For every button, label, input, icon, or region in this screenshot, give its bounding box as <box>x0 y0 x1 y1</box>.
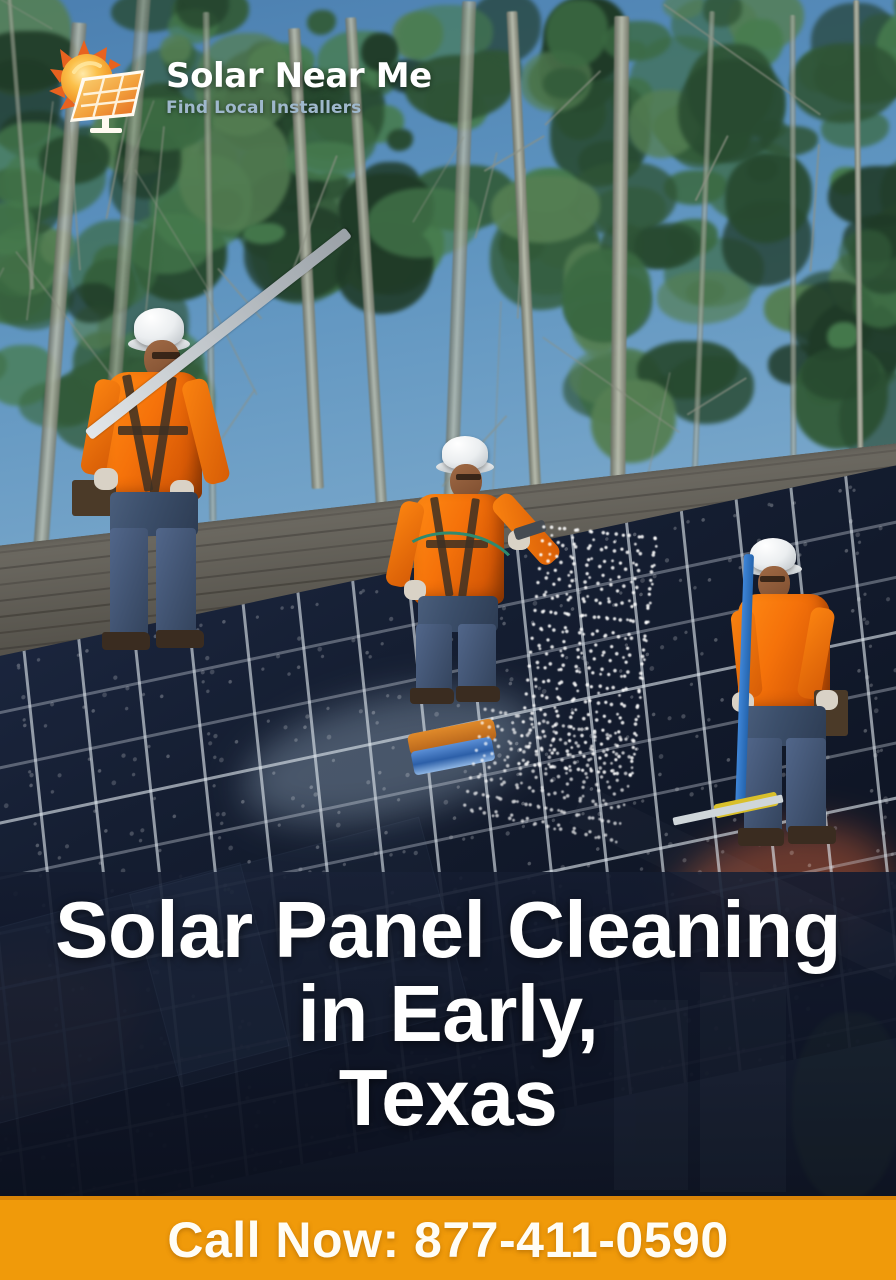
sunglasses <box>760 576 785 582</box>
boot-left <box>102 632 150 650</box>
sunglasses <box>456 474 481 480</box>
leg-right <box>156 528 196 638</box>
brand-name: Solar Near Me <box>166 59 432 93</box>
headline-line-1: Solar Panel Cleaning <box>18 888 878 972</box>
boot-right <box>156 630 204 648</box>
page-title: Solar Panel Cleaning in Early, Texas <box>0 888 896 1140</box>
call-now-bar[interactable]: Call Now: 877-411-0590 <box>0 1196 896 1280</box>
tree-trunk <box>790 15 797 469</box>
call-now-label[interactable]: Call Now: 877-411-0590 <box>167 1211 728 1269</box>
solar-cleaning-poster: Solar Panel Cleaning in Early, Texas Cal… <box>0 0 896 1280</box>
leg-left <box>744 738 782 836</box>
brand-tagline: Find Local Installers <box>166 100 432 117</box>
leg-left <box>110 528 148 640</box>
tree-branch <box>809 144 820 272</box>
boot-left <box>738 828 784 846</box>
leg-left <box>416 624 452 696</box>
tree-foliage <box>307 10 336 36</box>
brand-logo[interactable]: Solar Near Me Find Local Installers <box>44 38 432 136</box>
tree-trunk <box>610 16 629 546</box>
tree-foliage <box>664 356 754 424</box>
boot-right <box>788 826 836 844</box>
boot-left <box>410 688 454 704</box>
sun-solar-panel-icon <box>44 38 154 136</box>
glove-left <box>94 468 118 490</box>
safety-harness-crossbar <box>118 426 188 435</box>
boot-right <box>456 686 500 702</box>
brand-text-block: Solar Near Me Find Local Installers <box>166 59 432 117</box>
headline-line-2: in Early, <box>18 972 878 1056</box>
leg-right <box>786 738 826 834</box>
leg-right <box>458 624 496 694</box>
headline-line-3: Texas <box>18 1056 878 1140</box>
tree-foliage <box>790 43 896 124</box>
